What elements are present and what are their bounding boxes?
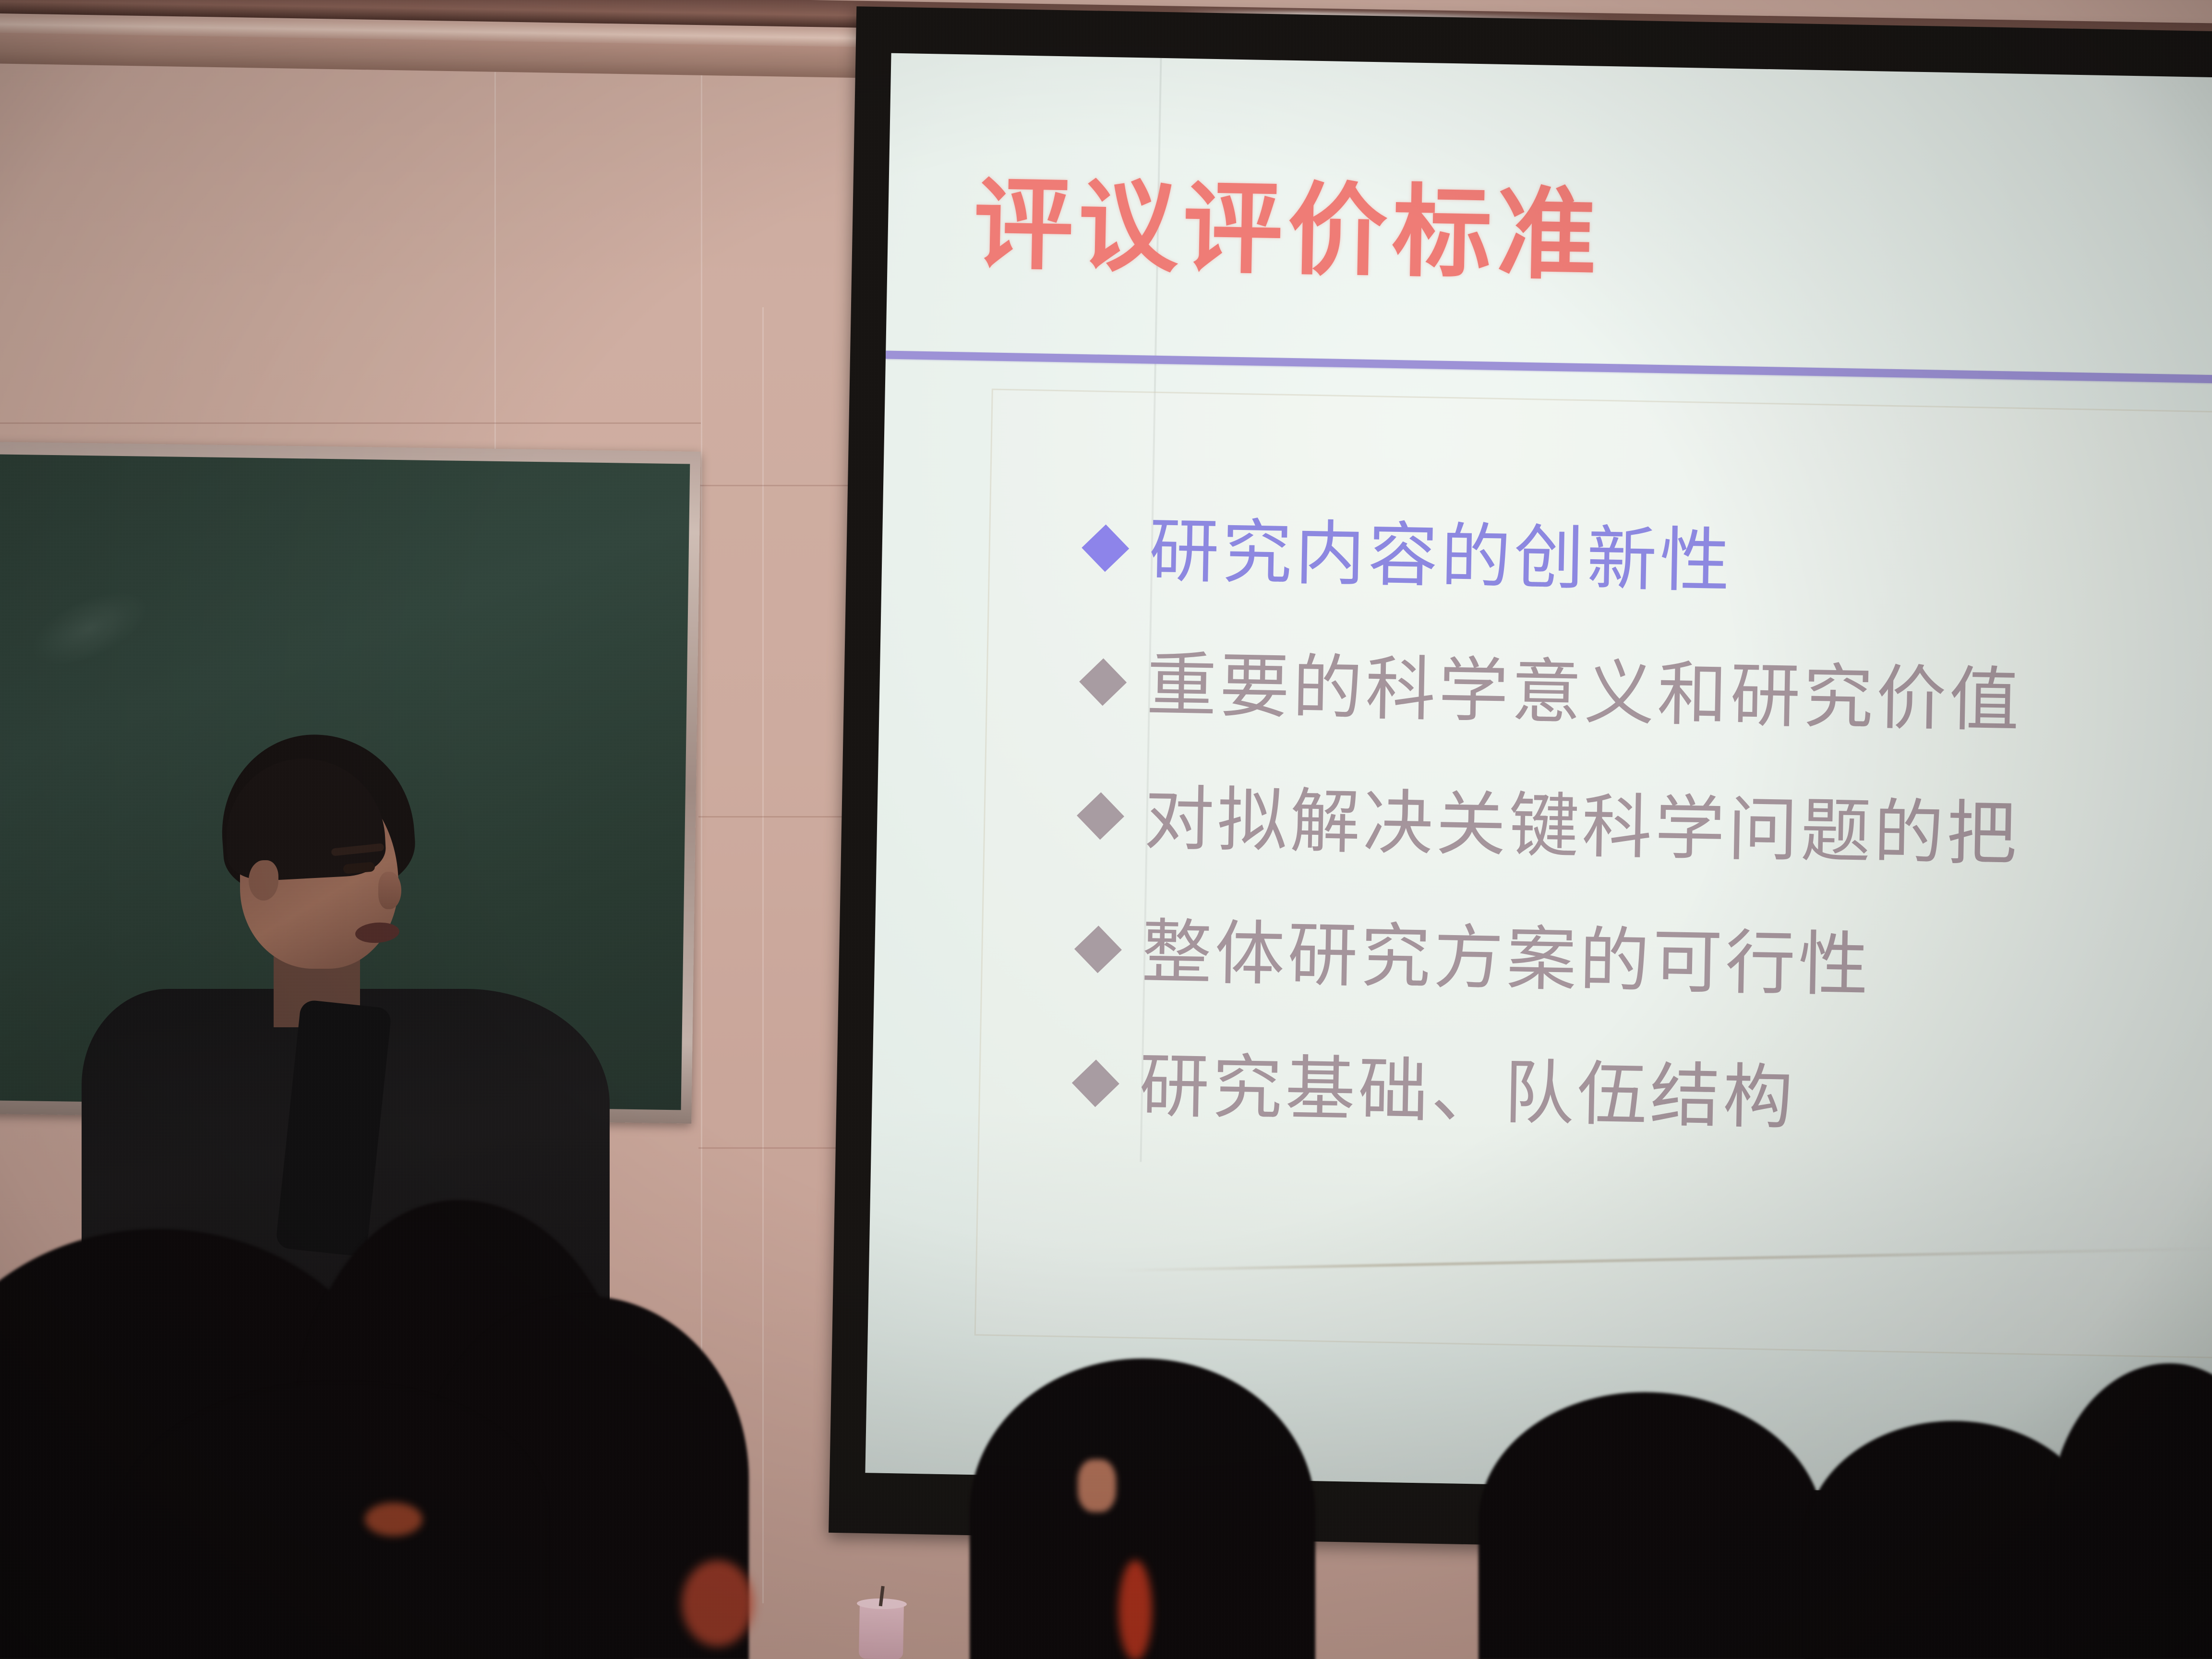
screenshot-root: 评议评价标准 研究内容的创新性 重要的科学意义和研究价值 对拟解决关键科学问题的…: [0, 0, 2212, 1659]
list-item: 研究基础、队伍结构: [1078, 1048, 2212, 1144]
wall-tile-seam: [698, 816, 857, 817]
slide-title: 评议评价标准: [973, 175, 1602, 286]
slide-bullet-list: 研究内容的创新性 重要的科学意义和研究价值 对拟解决关键科学问题的把 整体研究方…: [1077, 513, 2212, 1203]
list-item: 整体研究方案的可行性: [1081, 914, 2212, 1010]
bullet-label: 对拟解决关键科学问题的把: [1143, 781, 2020, 872]
bullet-label: 重要的科学意义和研究价值: [1146, 648, 2023, 738]
paper-cup: [859, 1603, 904, 1659]
presenter-ear: [249, 860, 278, 901]
diamond-bullet-icon: [1072, 1059, 1119, 1107]
diamond-bullet-icon: [1074, 926, 1122, 974]
diamond-bullet-icon: [1079, 658, 1127, 706]
bullet-label: 研究内容的创新性: [1148, 514, 1733, 599]
bullet-label: 整体研究方案的可行性: [1141, 915, 1872, 1003]
list-item: 对拟解决关键科学问题的把: [1083, 781, 2212, 877]
diamond-bullet-icon: [1082, 524, 1129, 572]
chalkboard-smudge: [21, 577, 158, 680]
list-item: 重要的科学意义和研究价值: [1085, 647, 2212, 743]
wall-tile-seam: [698, 1147, 857, 1149]
wall-tile-seam: [698, 485, 857, 486]
wall-tile-seam: [0, 422, 701, 424]
bullet-label: 研究基础、队伍结构: [1139, 1049, 1797, 1135]
projection-screen: 评议评价标准 研究内容的创新性 重要的科学意义和研究价值 对拟解决关键科学问题的…: [829, 6, 2212, 1559]
diamond-bullet-icon: [1077, 792, 1124, 840]
audience-head: [970, 1358, 1315, 1659]
slide-title-divider: [886, 350, 2212, 384]
presentation-slide: 评议评价标准 研究内容的创新性 重要的科学意义和研究价值 对拟解决关键科学问题的…: [865, 53, 2212, 1499]
wall-tile-seam: [762, 307, 764, 1603]
presenter-nose: [378, 872, 401, 909]
